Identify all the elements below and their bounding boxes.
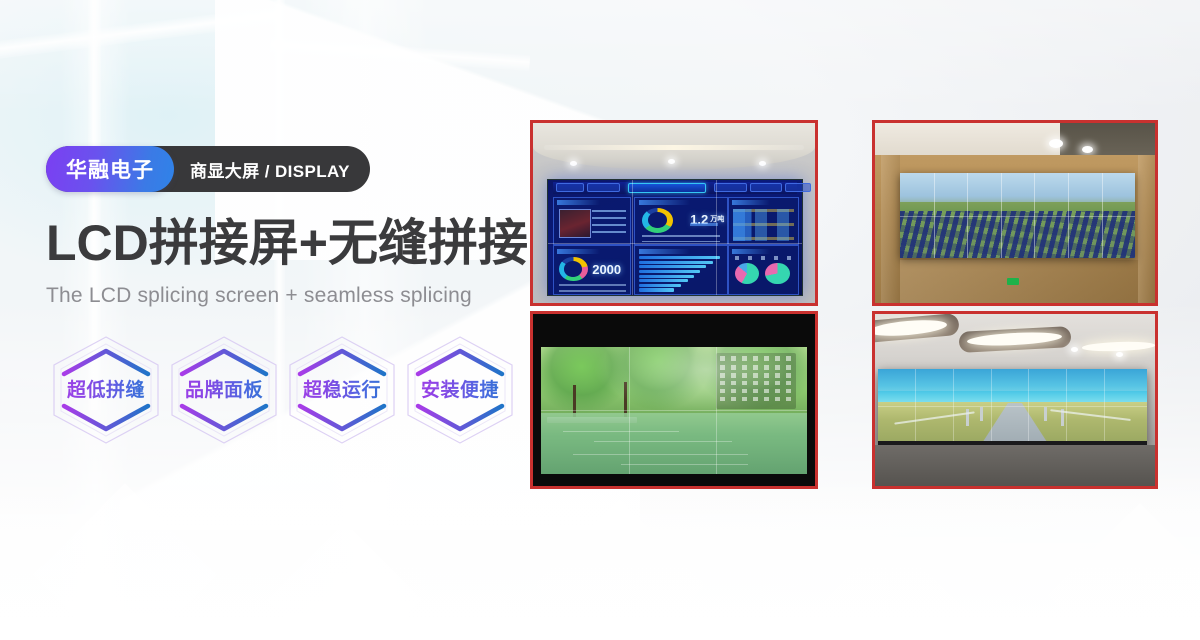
panel-legend xyxy=(559,284,626,292)
panel-header xyxy=(639,200,690,205)
dashboard-panel xyxy=(634,245,727,294)
feature-badge: 品牌面板 xyxy=(166,334,282,446)
dashboard-panel: 1.2 万吨 xyxy=(634,197,727,245)
photo-content xyxy=(875,123,1155,303)
metric-caption xyxy=(690,223,717,226)
feature-badge: 安装便捷 xyxy=(402,334,518,446)
donut-chart-hole xyxy=(648,212,667,228)
panel-thumbnail xyxy=(559,209,591,238)
panel-header xyxy=(557,200,600,205)
screen-bezel-seam xyxy=(915,369,916,446)
panel-legend xyxy=(642,235,721,242)
bar-item xyxy=(639,279,688,282)
wood-panel-seam xyxy=(1138,155,1155,303)
photo-content xyxy=(875,314,1155,486)
feature-badge: 超稳运行 xyxy=(284,334,400,446)
brand-badge: 华融电子 商显大屏 / DISPLAY xyxy=(46,146,370,192)
product-photo-dashboard-wall[interactable]: 1.2 万吨 2000 xyxy=(530,120,818,306)
screen-bezel-seam xyxy=(632,180,633,295)
topbar-chip xyxy=(587,183,620,192)
photo-content: 1.2 万吨 2000 xyxy=(533,123,815,303)
ceiling-spotlight xyxy=(1116,352,1123,357)
bar-item xyxy=(639,270,700,273)
pie-chart xyxy=(765,263,790,285)
brand-category-label: 商显大屏 / DISPLAY xyxy=(174,146,350,192)
flow-diagram xyxy=(733,209,793,241)
feature-badge: 超低拼缝 xyxy=(48,334,164,446)
panel-header xyxy=(732,249,770,254)
panel-textlines xyxy=(592,210,625,235)
bar-item xyxy=(639,288,674,291)
bar-item xyxy=(639,265,706,268)
dashboard-topbar xyxy=(553,182,797,194)
pie-chart xyxy=(735,263,760,285)
floor xyxy=(875,445,1155,486)
page-subtitle: The LCD splicing screen + seamless splic… xyxy=(46,284,526,308)
screen-bezel-seam xyxy=(900,216,1135,217)
topbar-chip xyxy=(750,183,783,192)
topbar-chip xyxy=(556,183,584,192)
photo-content xyxy=(533,314,815,486)
dashboard-panel: 2000 xyxy=(553,245,631,294)
dashboard-panel xyxy=(728,197,799,245)
ceiling-spotlight xyxy=(1049,139,1063,148)
panel-header xyxy=(639,249,690,254)
screen-bezel-seam xyxy=(541,410,806,411)
pie-legend xyxy=(735,256,793,260)
sky-region xyxy=(900,173,1135,205)
wood-panel-seam xyxy=(881,155,901,303)
feature-badge-list: 超低拼缝 品牌面板 xyxy=(48,334,528,446)
screen-bezel-seam xyxy=(1066,369,1067,446)
screen-bezel-seam xyxy=(548,243,802,244)
wood-panel-seam xyxy=(900,260,1138,303)
product-photo-pond-wall[interactable] xyxy=(530,311,818,489)
ceiling-spotlight xyxy=(1071,347,1078,352)
ceiling-light-strip xyxy=(544,145,803,150)
page-title: LCD拼接屏+无缝拼接 xyxy=(46,218,526,268)
topbar-chip xyxy=(785,183,811,192)
feature-badge-label: 超低拼缝 xyxy=(48,375,164,402)
screen-bezel-seam xyxy=(1104,369,1105,446)
ceiling-spotlight xyxy=(759,161,766,166)
headline-block: 华融电子 商显大屏 / DISPLAY LCD拼接屏+无缝拼接 The LCD … xyxy=(46,146,526,308)
video-wall-screen: 1.2 万吨 2000 xyxy=(547,179,803,296)
ceiling-spotlight xyxy=(570,161,577,166)
panel-header xyxy=(557,249,600,254)
metric-secondary-value: 2000 xyxy=(592,262,621,277)
solar-panel-array xyxy=(900,211,1135,258)
marketing-banner: 华融电子 商显大屏 / DISPLAY LCD拼接屏+无缝拼接 The LCD … xyxy=(0,0,1200,640)
bar-item xyxy=(639,284,681,287)
topbar-chip xyxy=(714,183,747,192)
feature-badge-label: 安装便捷 xyxy=(402,375,518,402)
exit-sign-icon xyxy=(1007,278,1019,285)
dashboard-panel xyxy=(553,197,631,245)
bar-chart xyxy=(639,256,723,292)
bar-item xyxy=(639,275,694,278)
screen-bezel-seam xyxy=(878,406,1147,407)
brand-name-pill: 华融电子 xyxy=(46,146,174,192)
bar-item xyxy=(639,261,713,264)
product-photo-solar-wall[interactable] xyxy=(872,120,1158,306)
screen-bezel-seam xyxy=(991,369,992,446)
screen-bezel-seam xyxy=(716,180,717,295)
screen-bezel-seam xyxy=(953,369,954,446)
bar-item xyxy=(639,256,720,259)
panel-header xyxy=(732,200,770,205)
fence-post xyxy=(1044,407,1047,421)
screen-bezel-seam xyxy=(1028,369,1029,446)
dashboard-panel xyxy=(728,245,799,294)
video-wall-screen xyxy=(541,347,806,474)
donut-chart-hole xyxy=(564,261,582,277)
dashboard-title-chip xyxy=(628,183,706,193)
fence-post xyxy=(980,407,983,421)
feature-badge-label: 超稳运行 xyxy=(284,375,400,402)
feature-badge-label: 品牌面板 xyxy=(166,375,282,402)
product-photo-beach-wall[interactable] xyxy=(872,311,1158,489)
video-wall-screen xyxy=(900,173,1135,258)
video-wall-screen xyxy=(878,369,1147,446)
